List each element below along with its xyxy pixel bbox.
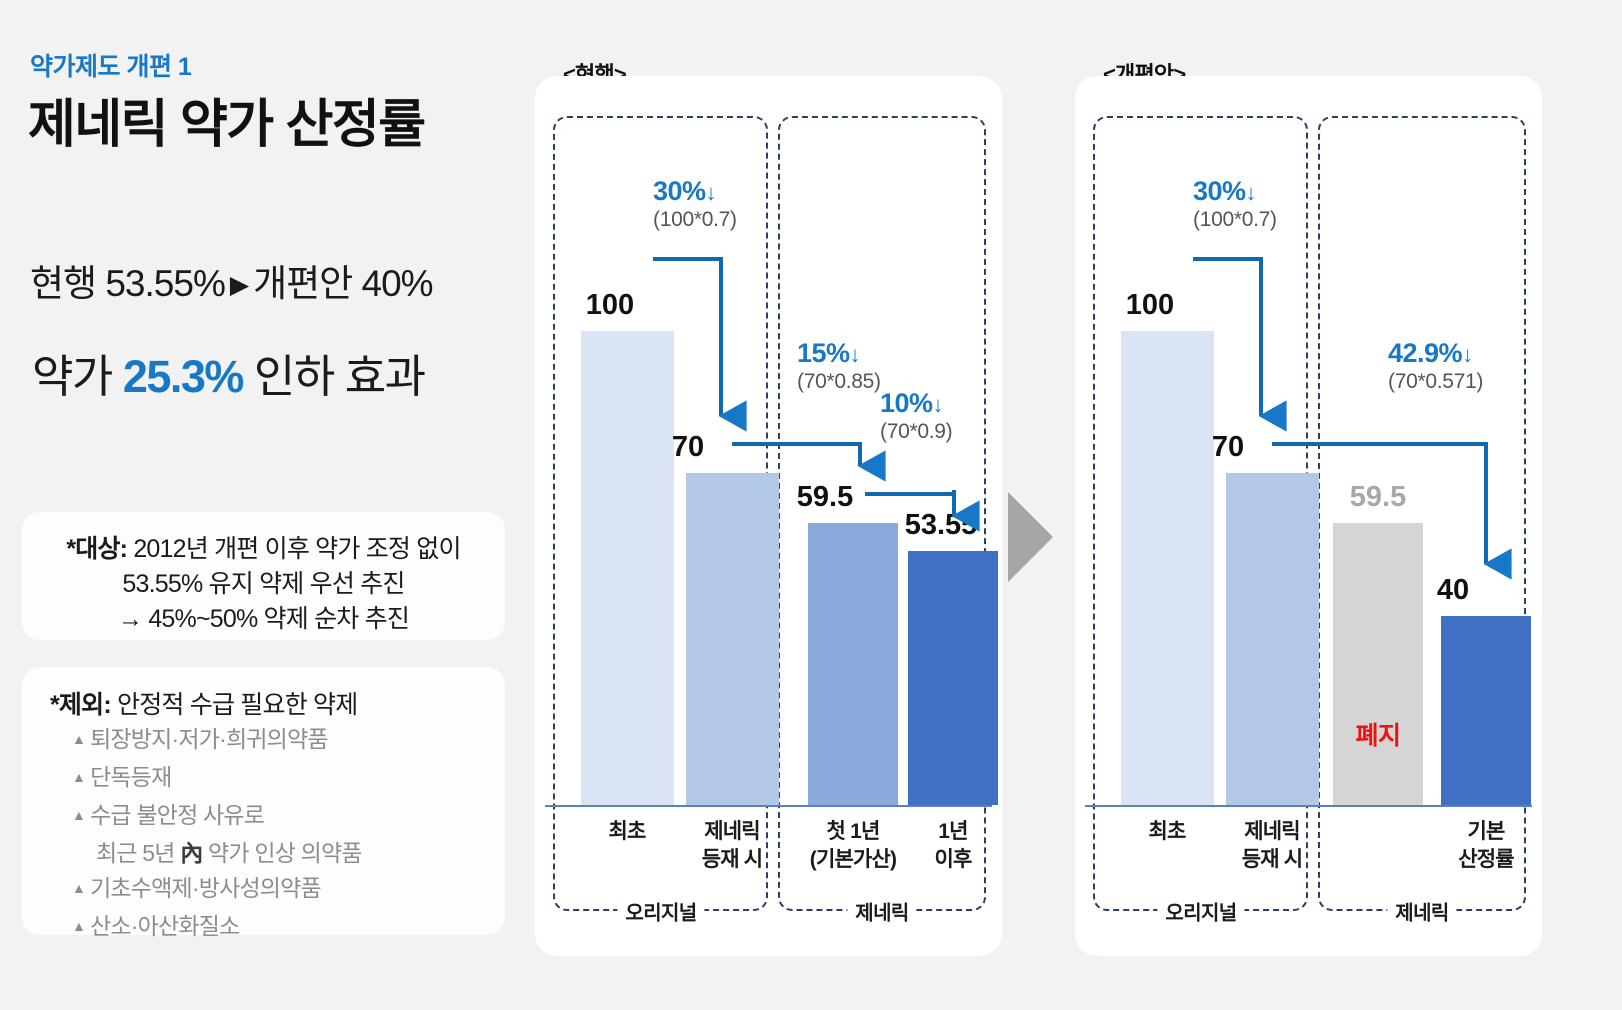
list-item: ▲수급 불안정 사유로	[72, 798, 362, 836]
left-text-column: 약가제도 개편 1 제네릭 약가 산정률 현행 53.55%▶개편안 40% 약…	[0, 0, 530, 1010]
annotation-percent: 30%	[653, 176, 706, 206]
list-item-label: 산소·아산화질소	[90, 913, 239, 939]
down-arrow-icon: ↓	[706, 180, 717, 205]
list-item-continuation: 최근 5년 內 약가 인상 의약품	[72, 836, 362, 871]
exclude-note-heading-rest: 안정적 수급 필요한 약제	[111, 691, 358, 719]
right-chart-panel: 오리지널 제네릭 100 70 59.5 40 폐지 최초 제네릭 등재 시 기…	[1075, 76, 1542, 956]
left-chart-panel: 오리지널 제네릭 100 70 59.5 53.55 최초 제네릭 등재 시 첫…	[535, 76, 1002, 956]
bar-value-폐지-59-5: 59.5	[1350, 481, 1406, 514]
bar-caption-기본-산정률: 기본 산정률	[1458, 818, 1514, 874]
bar-기본-산정률	[1441, 616, 1531, 805]
bar-value-첫-1년: 59.5	[797, 481, 853, 514]
infographic-root: 약가제도 개편 1 제네릭 약가 산정률 현행 53.55%▶개편안 40% 약…	[0, 0, 1622, 1010]
annotation-percent: 15%	[797, 338, 850, 368]
target-note-line2: 53.55% 유지 약제 우선 추진	[122, 570, 404, 598]
triangle-bullet-icon: ▲	[72, 807, 85, 823]
target-note-line1: 2012년 개편 이후 약가 조정 없이	[127, 535, 461, 563]
eyebrow-label: 약가제도 개편 1	[30, 47, 191, 83]
annotation-formula: (100*0.7)	[653, 208, 737, 232]
target-note-card: *대상: 2012년 개편 이후 약가 조정 없이 53.55% 유지 약제 우…	[22, 512, 505, 640]
list-item-label: 퇴장방지·저가·희귀의약품	[90, 726, 328, 752]
bar-value-1년-이후: 53.55	[905, 509, 978, 542]
right-group-original-label: 오리지널	[1157, 897, 1244, 926]
transition-arrow-icon	[1008, 492, 1053, 582]
caption-line-2: (기본가산)	[810, 848, 896, 871]
down-arrow-icon: ↓	[1462, 342, 1473, 367]
summary-comparison: 현행 53.55%▶개편안 40%	[30, 253, 433, 307]
target-note-text: *대상: 2012년 개편 이후 약가 조정 없이 53.55% 유지 약제 우…	[22, 532, 505, 637]
bar-제네릭-등재-시	[1226, 473, 1319, 805]
caption-line-1: 최초	[608, 820, 645, 843]
bar-폐지-59-5	[1333, 523, 1423, 805]
caption-line-1: 제네릭	[1244, 820, 1300, 843]
caption-line-1: 제네릭	[704, 820, 760, 843]
annotation-formula: (70*0.85)	[797, 370, 881, 394]
arrow-right-icon: ▶	[225, 271, 253, 299]
triangle-bullet-icon: ▲	[72, 918, 85, 934]
page-title: 제네릭 약가 산정률	[28, 82, 425, 157]
bar-value-제네릭-등재-시: 70	[1212, 431, 1244, 464]
exclude-note-label: *제외:	[50, 691, 111, 719]
bar-caption-1년-이후: 1년 이후	[934, 818, 971, 874]
effect-prefix: 약가	[32, 351, 123, 402]
exclude-note-card: *제외: 안정적 수급 필요한 약제 ▲퇴장방지·저가·희귀의약품 ▲단독등재 …	[22, 667, 505, 935]
continuation-pre: 최근 5년	[96, 840, 180, 866]
bar-1년-이후	[908, 551, 998, 805]
down-arrow-icon: ↓	[850, 342, 861, 367]
annotation-percent: 30%	[1193, 176, 1246, 206]
bar-caption-제네릭-등재-시: 제네릭 등재 시	[702, 818, 763, 874]
annotation-percent: 42.9%	[1388, 338, 1462, 368]
down-arrow-icon: ↓	[933, 392, 944, 417]
caption-line-2: 등재 시	[1242, 848, 1303, 871]
target-note-line3: → 45%~50% 약제 순차 추진	[118, 605, 409, 633]
bar-첫-1년-기본가산	[808, 523, 898, 805]
left-annotation-15: 15%↓ (70*0.85)	[797, 338, 881, 394]
triangle-bullet-icon: ▲	[72, 731, 85, 747]
right-axis-baseline	[1085, 805, 1532, 807]
caption-line-2: 이후	[934, 848, 971, 871]
summary-before: 현행 53.55%	[30, 263, 225, 304]
left-group-original-label: 오리지널	[617, 897, 704, 926]
annotation-formula: (70*0.9)	[880, 420, 952, 444]
bar-최초	[581, 331, 674, 805]
continuation-post: 약가 인상 의약품	[202, 840, 361, 866]
list-item-label: 기초수액제·방사성의약품	[90, 875, 321, 901]
effect-statement: 약가 25.3% 인하 효과	[32, 340, 425, 405]
triangle-bullet-icon: ▲	[72, 769, 85, 785]
right-group-generic-label: 제네릭	[1387, 897, 1456, 926]
bar-value-최초: 100	[586, 289, 634, 322]
bar-caption-최초: 최초	[608, 818, 645, 846]
exclude-note-heading: *제외: 안정적 수급 필요한 약제	[50, 685, 357, 721]
caption-line-1: 1년	[938, 820, 967, 843]
bar-value-제네릭-등재-시: 70	[672, 431, 704, 464]
caption-line-1: 기본	[1467, 820, 1504, 843]
annotation-formula: (100*0.7)	[1193, 208, 1277, 232]
bar-caption-최초: 최초	[1148, 818, 1185, 846]
effect-value: 25.3%	[123, 351, 243, 402]
bar-overlay-폐지: 폐지	[1355, 716, 1400, 752]
left-annotation-30: 30%↓ (100*0.7)	[653, 176, 737, 232]
down-arrow-icon: ↓	[1246, 180, 1257, 205]
annotation-formula: (70*0.571)	[1388, 370, 1483, 394]
summary-after: 개편안 40%	[253, 263, 432, 304]
list-item: ▲산소·아산화질소	[72, 909, 362, 947]
list-item-label: 수급 불안정 사유로	[90, 802, 264, 828]
bar-caption-제네릭-등재-시: 제네릭 등재 시	[1242, 818, 1303, 874]
list-item: ▲단독등재	[72, 760, 362, 798]
bar-최초	[1121, 331, 1214, 805]
annotation-percent: 10%	[880, 388, 933, 418]
list-item: ▲기초수액제·방사성의약품	[72, 871, 362, 909]
triangle-bullet-icon: ▲	[72, 880, 85, 896]
list-item: ▲퇴장방지·저가·희귀의약품	[72, 722, 362, 760]
right-annotation-30: 30%↓ (100*0.7)	[1193, 176, 1277, 232]
caption-line-2: 등재 시	[702, 848, 763, 871]
left-axis-baseline	[545, 805, 992, 807]
continuation-emphasis: 內	[180, 840, 202, 866]
bar-value-최초: 100	[1126, 289, 1174, 322]
caption-line-2: 산정률	[1458, 848, 1514, 871]
bar-caption-첫-1년: 첫 1년 (기본가산)	[810, 818, 896, 874]
effect-suffix: 인하 효과	[243, 351, 425, 402]
bar-value-기본-산정률: 40	[1437, 574, 1469, 607]
list-item-label: 단독등재	[90, 764, 171, 790]
bar-제네릭-등재-시	[686, 473, 779, 805]
caption-line-1: 최초	[1148, 820, 1185, 843]
target-note-label: *대상:	[66, 535, 127, 563]
exclude-item-list: ▲퇴장방지·저가·희귀의약품 ▲단독등재 ▲수급 불안정 사유로 최근 5년 內…	[72, 722, 362, 947]
left-group-generic-label: 제네릭	[847, 897, 916, 926]
left-annotation-10: 10%↓ (70*0.9)	[880, 388, 952, 444]
right-annotation-42-9: 42.9%↓ (70*0.571)	[1388, 338, 1483, 394]
caption-line-1: 첫 1년	[827, 820, 880, 843]
